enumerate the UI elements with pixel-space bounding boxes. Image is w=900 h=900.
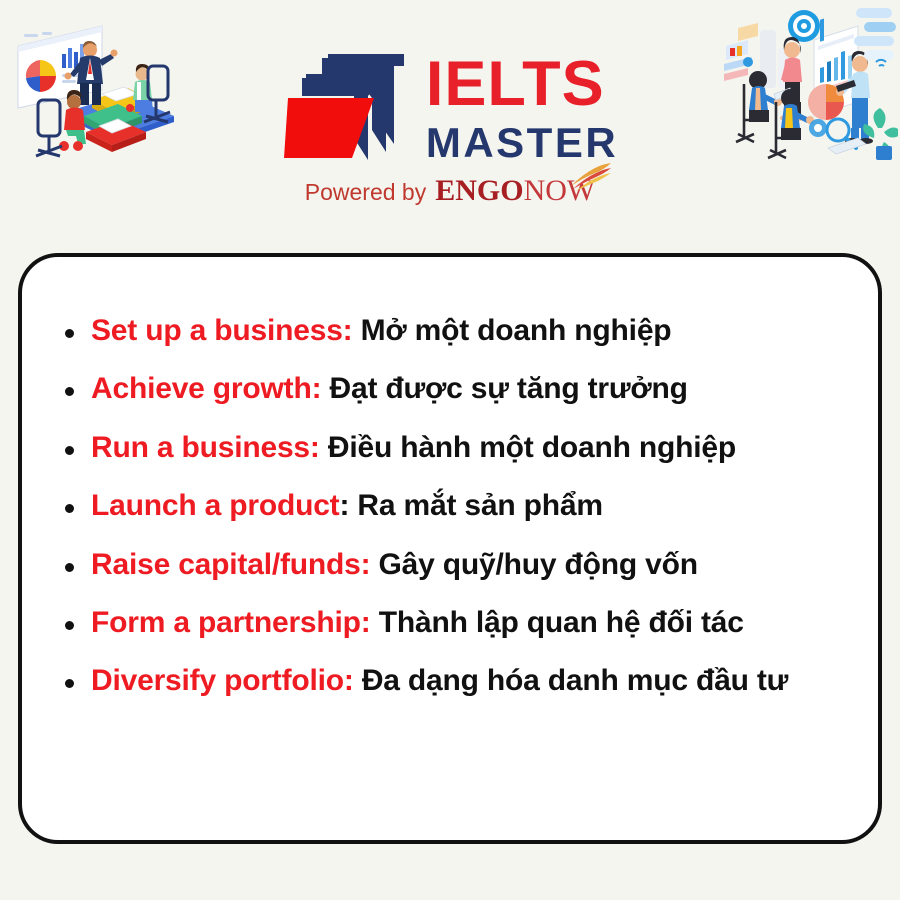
list-item: Form a partnership: Thành lập quan hệ đố…: [65, 604, 844, 642]
engonow-bold-part: ENGO: [435, 174, 523, 207]
bullet-icon: [65, 563, 74, 572]
list-item-text: Achieve growth: Đạt được sự tăng trưởng: [91, 370, 688, 408]
list-item: Raise capital/funds: Gây quỹ/huy động vố…: [65, 546, 844, 584]
list-item-term: Launch a product: [91, 489, 339, 522]
list-item-text: Set up a business: Mở một doanh nghiệp: [91, 312, 671, 350]
bullet-icon: [65, 504, 74, 513]
list-item: Launch a product: Ra mắt sản phẩm: [65, 487, 844, 525]
engonow-wordmark: ENGONOW: [435, 176, 595, 206]
brand-wordmark: IELTS MASTER: [426, 53, 618, 164]
list-item-term: Achieve growth:: [91, 372, 321, 405]
bullet-icon: [65, 679, 74, 688]
list-item-definition: : Ra mắt sản phẩm: [339, 489, 602, 522]
list-item: Achieve growth: Đạt được sự tăng trưởng: [65, 370, 844, 408]
list-item-term: Form a partnership:: [91, 606, 371, 639]
vocabulary-card: Set up a business: Mở một doanh nghiệpAc…: [18, 253, 882, 844]
powered-by-lockup: Powered by ENGONOW: [305, 176, 595, 206]
brand-title-primary: IELTS: [426, 53, 618, 116]
list-item-term: Raise capital/funds:: [91, 548, 370, 581]
list-item: Diversify portfolio: Đa dạng hóa danh mụ…: [65, 662, 844, 700]
list-item-definition: Mở một doanh nghiệp: [352, 314, 671, 347]
bullet-icon: [65, 387, 74, 396]
bullet-icon: [65, 446, 74, 455]
brand-lockup: IELTS MASTER: [282, 52, 618, 164]
list-item-text: Diversify portfolio: Đa dạng hóa danh mụ…: [91, 662, 788, 700]
list-item-definition: Thành lập quan hệ đối tác: [371, 606, 744, 639]
list-item: Set up a business: Mở một doanh nghiệp: [65, 312, 844, 350]
bullet-icon: [65, 329, 74, 338]
list-item: Run a business: Điều hành một doanh nghi…: [65, 429, 844, 467]
list-item-term: Set up a business:: [91, 314, 352, 347]
ielts-master-folder-logo-icon: [282, 52, 412, 164]
brand-header: IELTS MASTER Powered by ENGONOW: [0, 52, 900, 206]
vocabulary-list: Set up a business: Mở một doanh nghiệpAc…: [22, 257, 878, 701]
list-item-definition: Đa dạng hóa danh mục đầu tư: [354, 664, 788, 697]
bullet-icon: [65, 621, 74, 630]
list-item-definition: Gây quỹ/huy động vốn: [370, 548, 698, 581]
list-item-definition: Đạt được sự tăng trưởng: [321, 372, 687, 405]
poster-root: IELTS MASTER Powered by ENGONOW Set up a…: [0, 0, 900, 900]
list-item-definition: Điều hành một doanh nghiệp: [320, 431, 736, 464]
powered-by-label: Powered by: [305, 179, 426, 206]
brand-title-secondary: MASTER: [426, 122, 618, 164]
open-book-swoosh-icon: [569, 162, 613, 192]
list-item-term: Run a business:: [91, 431, 320, 464]
list-item-term: Diversify portfolio:: [91, 664, 354, 697]
list-item-text: Form a partnership: Thành lập quan hệ đố…: [91, 604, 744, 642]
list-item-text: Launch a product: Ra mắt sản phẩm: [91, 487, 603, 525]
list-item-text: Run a business: Điều hành một doanh nghi…: [91, 429, 736, 467]
list-item-text: Raise capital/funds: Gây quỹ/huy động vố…: [91, 546, 698, 584]
